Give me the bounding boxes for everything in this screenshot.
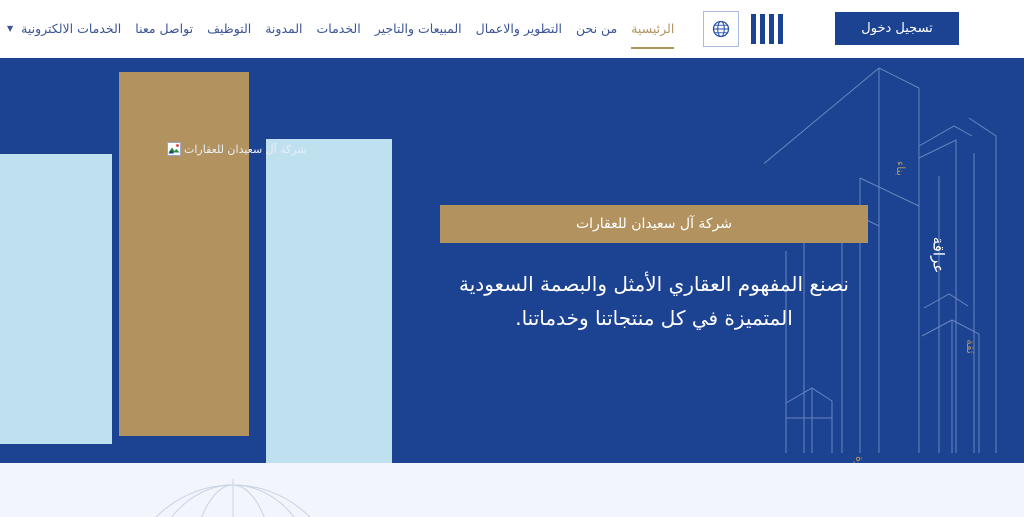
nav-item-label: المبيعات والتاجير <box>375 21 462 36</box>
page-root: الرئيسية من نحن التطوير والاعمال المبيعا… <box>0 0 1024 517</box>
nav-item-label: تواصل معنا <box>135 21 193 36</box>
menu-bar-4 <box>751 14 756 44</box>
hero-broken-image: شركة آل سعيدان للعقارات <box>167 142 307 156</box>
menu-bar-3 <box>760 14 765 44</box>
nav-item-blog[interactable]: المدونة <box>258 15 309 43</box>
decor-block-gold <box>119 72 249 436</box>
menu-bar-2 <box>769 14 774 44</box>
decor-word-2: عراقة <box>929 237 947 274</box>
nav-item-label: من نحن <box>576 21 617 36</box>
decor-word-1: بناء <box>894 161 907 176</box>
hero-broken-image-alt-text: شركة آل سعيدان للعقارات <box>184 143 307 156</box>
hero-copy: شركة آل سعيدان للعقارات نصنع المفهوم الع… <box>440 205 868 335</box>
nav-item-sales-rental[interactable]: المبيعات والتاجير <box>368 15 469 43</box>
menu-bar-1 <box>778 14 783 44</box>
nav-item-services[interactable]: الخدمات <box>310 15 368 43</box>
broken-image-icon <box>167 142 181 156</box>
decor-block-light-left <box>0 154 112 444</box>
hero-badge: شركة آل سعيدان للعقارات <box>440 205 868 243</box>
nav-item-careers[interactable]: التوظيف <box>200 15 258 43</box>
nav-item-contact[interactable]: تواصل معنا <box>128 15 200 43</box>
hero-headline: نصنع المفهوم العقاري الأمثل والبصمة السع… <box>440 267 868 335</box>
nav-item-eservices[interactable]: الخدمات الالكترونية ▼ <box>0 15 128 43</box>
menu-bars-icon[interactable] <box>751 14 783 44</box>
hero-headline-line-1: نصنع المفهوم العقاري الأمثل والبصمة السع… <box>459 272 849 296</box>
nav-item-label: التوظيف <box>207 21 251 36</box>
header-tools: تسجيل دخول <box>689 11 965 47</box>
globe-icon[interactable] <box>703 11 739 47</box>
nav-item-label: الخدمات <box>317 21 361 36</box>
active-nav-underline <box>631 47 674 49</box>
bottom-section <box>0 463 1024 517</box>
decor-word-4: قوة <box>853 456 866 463</box>
chevron-down-icon: ▼ <box>7 19 13 39</box>
nav-item-label: الرئيسية <box>631 21 674 36</box>
nav-item-about[interactable]: من نحن <box>569 15 624 43</box>
nav-item-home[interactable]: الرئيسية <box>624 15 681 43</box>
site-header: الرئيسية من نحن التطوير والاعمال المبيعا… <box>0 0 1024 58</box>
hero-headline-line-2: المتميزة في كل منتجاتنا وخدماتنا. <box>515 306 793 330</box>
nav-item-development[interactable]: التطوير والاعمال <box>469 15 569 43</box>
nav-item-label: التطوير والاعمال <box>476 21 562 36</box>
login-button[interactable]: تسجيل دخول <box>835 12 959 45</box>
decor-word-3: ثقة <box>964 339 977 354</box>
globe-wireframe-decor <box>68 471 398 517</box>
decor-block-light-right <box>266 139 392 463</box>
hero-section: شركة آل سعيدان للعقارات <box>0 58 1024 463</box>
nav-item-label: المدونة <box>265 21 302 36</box>
nav-item-label: الخدمات الالكترونية <box>21 21 121 36</box>
main-navigation: الرئيسية من نحن التطوير والاعمال المبيعا… <box>0 0 681 58</box>
